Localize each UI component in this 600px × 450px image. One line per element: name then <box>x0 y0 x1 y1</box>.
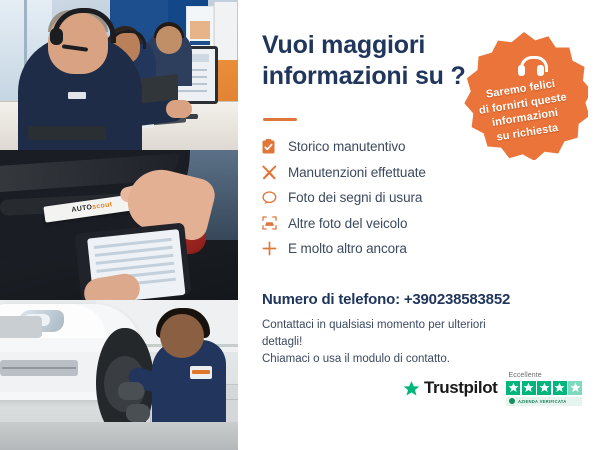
list-item: E molto altro ancora <box>262 236 477 262</box>
trustpilot-wordmark: Trustpilot <box>424 378 497 398</box>
promo-banner: AUTOscout <box>0 0 600 450</box>
verified-check-icon <box>509 398 515 404</box>
star-filled <box>553 381 567 395</box>
star-partial <box>568 381 582 395</box>
car-scan-frame-icon <box>262 216 288 230</box>
workshop-floor <box>0 422 238 450</box>
headset-icon <box>518 56 544 78</box>
list-item: Storico manutentivo <box>262 134 477 160</box>
agent-head-3 <box>156 26 182 54</box>
star-rating <box>506 381 582 395</box>
contact-line-2: Chiamaci o usa il modulo di contatto. <box>262 351 490 368</box>
speech-bubble-icon <box>262 191 288 205</box>
technician-head <box>160 314 204 358</box>
list-item-label: Foto dei segni di usura <box>288 190 422 205</box>
verified-label: AZIENDA VERIFICATA <box>518 399 567 404</box>
list-item-label: Manutenzioni effettuate <box>288 165 426 180</box>
uniform-patch <box>190 366 212 379</box>
list-item: Manutenzioni effettuate <box>262 160 477 186</box>
trustpilot-star-icon <box>403 380 420 397</box>
plus-icon <box>262 241 288 256</box>
headline-line-1: Vuoi maggiori <box>262 30 472 61</box>
list-item-label: E molto altro ancora <box>288 241 407 256</box>
car-grille <box>0 316 42 338</box>
trustpilot-rating: Trustpilot Eccellente <box>403 372 582 406</box>
tools-wrench-screwdriver-icon <box>262 165 288 180</box>
wheel-service-photo <box>0 300 238 450</box>
title-underline-rule <box>263 118 297 121</box>
photo-column: AUTOscout <box>0 0 238 450</box>
phone-number-label[interactable]: Numero di telefono: +390238583852 <box>262 291 510 308</box>
headline-line-2: informazioni su ? <box>262 61 472 92</box>
uniform-logo <box>68 92 86 99</box>
work-glove-2 <box>126 404 150 422</box>
work-glove-1 <box>118 382 144 400</box>
contact-line-1: Contattaci in qualsiasi momento per ulte… <box>262 317 490 351</box>
list-item: Foto dei segni di usura <box>262 185 477 211</box>
call-center-agents-photo <box>0 0 238 150</box>
sticker-inspection-photo: AUTOscout <box>0 150 238 300</box>
clipboard-check-icon <box>262 139 288 154</box>
desk-tray <box>28 126 106 140</box>
star-filled <box>522 381 536 395</box>
feature-list: Storico manutentivo Manutenzioni effettu… <box>262 134 477 262</box>
page-title: Vuoi maggiori informazioni su ? <box>262 30 472 91</box>
list-item-label: Storico manutentivo <box>288 139 405 154</box>
agent-hand <box>166 100 192 118</box>
star-filled <box>537 381 551 395</box>
headset-earcup <box>50 28 63 45</box>
verified-company-badge: AZIENDA VERIFICATA <box>506 397 582 406</box>
trustpilot-logo: Trustpilot <box>403 372 497 398</box>
callout-starburst-badge: Saremo felici di fornirti queste informa… <box>460 32 588 160</box>
star-filled <box>506 381 520 395</box>
content-panel: Vuoi maggiori informazioni su ? Saremo f… <box>238 0 600 450</box>
lower-grille <box>0 360 78 376</box>
trustpilot-score: Eccellente <box>506 372 582 406</box>
list-item-label: Altre foto del veicolo <box>288 216 407 231</box>
rating-label: Eccellente <box>506 372 541 379</box>
contact-description: Contattaci in qualsiasi momento per ulte… <box>262 317 490 368</box>
list-item: Altre foto del veicolo <box>262 211 477 237</box>
